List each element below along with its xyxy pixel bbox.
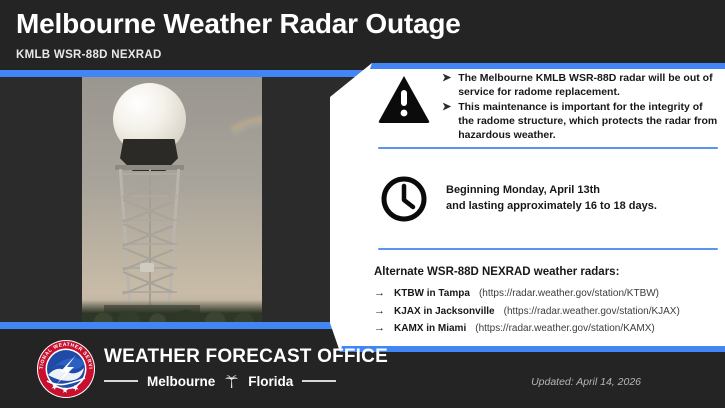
- arrow-bullet-icon: ➤: [442, 72, 451, 86]
- updated-timestamp: Updated: April 14, 2026: [531, 376, 641, 388]
- rule-right: [302, 380, 336, 382]
- warning-bullet-text: The Melbourne KMLB WSR-88D radar will be…: [458, 72, 718, 100]
- weather-radar-outage-graphic: Melbourne Weather Radar Outage KMLB WSR-…: [0, 0, 725, 408]
- panel-accent-bottom: [330, 346, 725, 352]
- auxiliary-dish: [140, 263, 154, 272]
- photo-stage: [0, 77, 370, 322]
- panel-accent-top: [330, 63, 725, 69]
- info-panel: ➤ The Melbourne KMLB WSR-88D radar will …: [330, 63, 725, 352]
- clock-icon: [380, 175, 428, 223]
- arrow-right-icon: →: [374, 303, 385, 320]
- alternate-radar-url[interactable]: (https://radar.weather.gov/station/KAMX): [475, 321, 655, 336]
- divider-line: [378, 248, 718, 250]
- arrow-right-icon: →: [374, 320, 385, 337]
- office-identity: WEATHER FORECAST OFFICE Melbourne Florid…: [104, 346, 388, 389]
- office-city: Melbourne: [147, 374, 215, 389]
- header: Melbourne Weather Radar Outage KMLB WSR-…: [0, 0, 725, 70]
- lattice-tower: [118, 169, 181, 317]
- schedule-line-2: and lasting approximately 16 to 18 days.: [446, 199, 657, 215]
- radar-tower-photo: [82, 77, 262, 322]
- arrow-right-icon: →: [374, 285, 385, 302]
- warning-bullet: ➤ This maintenance is important for the …: [442, 101, 718, 143]
- alternate-radar-url[interactable]: (https://radar.weather.gov/station/KJAX): [504, 304, 680, 319]
- page-title: Melbourne Weather Radar Outage: [16, 8, 461, 40]
- warning-bullet: ➤ The Melbourne KMLB WSR-88D radar will …: [442, 72, 718, 100]
- alternate-radar-item[interactable]: → KAMX in Miami (https://radar.weather.g…: [374, 320, 722, 337]
- office-location: Melbourne Florida: [104, 373, 388, 389]
- alternate-radar-name: KTBW in Tampa: [394, 286, 470, 301]
- office-state: Florida: [248, 374, 293, 389]
- palm-tree-icon: [224, 373, 239, 389]
- national-weather-service-seal: NATIONAL WEATHER SERVICE ★ ★ ★: [36, 339, 96, 399]
- page-subtitle: KMLB WSR-88D NEXRAD: [16, 49, 162, 61]
- alternate-radars-title: Alternate WSR-88D NEXRAD weather radars:: [374, 266, 722, 278]
- office-title: WEATHER FORECAST OFFICE: [104, 346, 388, 368]
- warning-bullet-text: This maintenance is important for the in…: [458, 101, 718, 143]
- alternate-radar-name: KJAX in Jacksonville: [394, 304, 495, 319]
- rule-left: [104, 380, 138, 382]
- treeline: [82, 300, 262, 322]
- alternate-radar-name: KAMX in Miami: [394, 321, 466, 336]
- arrow-bullet-icon: ➤: [442, 101, 451, 115]
- schedule-block: Beginning Monday, April 13th and lasting…: [380, 175, 720, 223]
- warning-triangle-icon: [378, 74, 430, 124]
- warning-block: ➤ The Melbourne KMLB WSR-88D radar will …: [378, 70, 718, 144]
- schedule-line-1: Beginning Monday, April 13th: [446, 183, 657, 199]
- alternate-radars-block: Alternate WSR-88D NEXRAD weather radars:…: [374, 266, 722, 338]
- divider-line: [378, 147, 718, 149]
- schedule-text: Beginning Monday, April 13th and lasting…: [446, 183, 657, 215]
- alternate-radar-item[interactable]: → KTBW in Tampa (https://radar.weather.g…: [374, 285, 722, 302]
- alternate-radar-url[interactable]: (https://radar.weather.gov/station/KTBW): [479, 286, 659, 301]
- warning-bullet-list: ➤ The Melbourne KMLB WSR-88D radar will …: [442, 70, 718, 144]
- alternate-radar-item[interactable]: → KJAX in Jacksonville (https://radar.we…: [374, 303, 722, 320]
